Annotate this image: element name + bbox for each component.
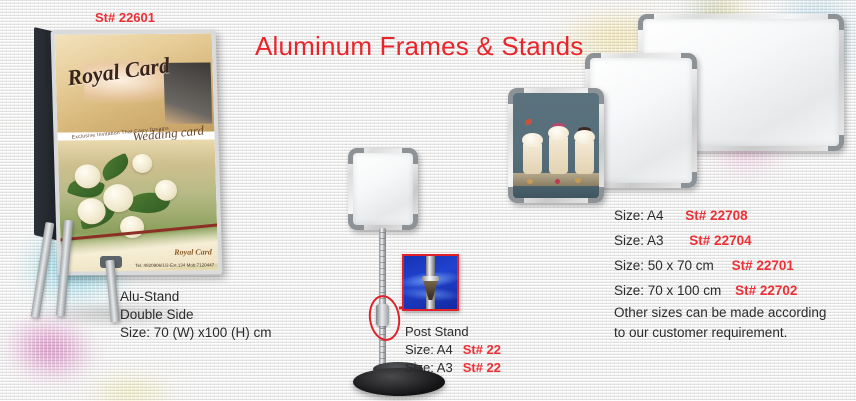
poster-rose <box>132 154 153 173</box>
watercolor-wash-yellow <box>60 368 200 401</box>
size-row: Size: 70 x 100 cm St# 22702 <box>614 278 826 303</box>
poster-rose <box>155 180 178 201</box>
poster-leaf <box>98 153 133 182</box>
photo-garnish <box>575 178 581 183</box>
snap-frame-small <box>508 88 604 203</box>
milkshake-photo <box>513 93 599 198</box>
snap-frame-medium-insert <box>590 58 692 183</box>
whipped-cream <box>522 133 543 147</box>
size-st-number: St# 22701 <box>732 258 794 273</box>
alu-stand-caption: Alu-Stand Double Side Size: 70 (W) x100 … <box>120 288 272 342</box>
post-stand-title: Post Stand <box>405 323 509 341</box>
catalog-page: St# 22601 Aluminum Frames & Stands Royal… <box>0 0 856 401</box>
poster-rose <box>77 198 106 224</box>
photo-garnish <box>527 179 533 184</box>
poster-rose <box>103 184 134 212</box>
frames-note-line1: Other sizes can be made according <box>614 303 826 323</box>
alu-stand-product: Royal Card Exclusive Invitation That Car… <box>16 24 256 314</box>
size-st-number: St# 22704 <box>689 233 751 248</box>
post-stand-st-number: St# 22 <box>463 342 501 357</box>
frame-sizes-list: Size: A4 St# 22708 Size: A3 St# 22704 Si… <box>614 203 826 343</box>
pole-joint-detail-inset <box>402 254 459 311</box>
photo-garnish <box>555 179 560 184</box>
a-stand-st-number: St# 22601 <box>95 10 155 25</box>
snap-frame-small-insert <box>513 93 599 198</box>
size-st-number: St# 22702 <box>735 283 797 298</box>
a-stand-poster: Royal Card Exclusive Invitation That Car… <box>51 29 223 275</box>
post-stand-frame-insert <box>353 153 413 225</box>
whipped-cream <box>548 126 569 140</box>
frames-note-line2: to our customer requirement. <box>614 323 826 343</box>
poster-top-photo: Royal Card <box>55 33 215 132</box>
alu-stand-size: Size: 70 (W) x100 (H) cm <box>120 324 272 342</box>
post-stand-row: Size: A3St# 22 <box>405 359 509 377</box>
post-stand-caption-clip: Post Stand Size: A4St# 22 Size: A3St# 22 <box>405 323 509 381</box>
photo-floor <box>513 186 599 198</box>
poster-logo: Royal Card <box>174 247 212 256</box>
size-row: Size: A3 St# 22704 <box>614 228 826 253</box>
milkshake-glass <box>523 143 542 174</box>
whipped-cream <box>574 130 595 144</box>
size-row: Size: A4 St# 22708 <box>614 203 826 228</box>
milkshake-glass <box>575 140 594 174</box>
alu-stand-name: Alu-Stand <box>120 288 272 306</box>
post-stand-row: Size: A4St# 22 <box>405 341 509 359</box>
size-label: Size: 50 x 70 cm <box>614 258 714 273</box>
poster-flowers-photo: Royal Card Tel.:4820906/1/2-Ext.134 Mob:… <box>58 139 219 271</box>
post-stand-frame <box>348 148 418 230</box>
alu-stand-side-info: Double Side <box>120 306 272 324</box>
photo-leaf <box>525 119 532 125</box>
poster-telephone: Tel.:4820906/1/2-Ext.134 Mob:7120447 <box>135 262 214 268</box>
size-label: Size: A3 <box>614 233 664 248</box>
size-row: Size: 50 x 70 cm St# 22701 <box>614 253 826 278</box>
milkshake-glass <box>549 136 568 174</box>
poster-rose <box>74 164 101 188</box>
post-stand-size: Size: A3 <box>405 360 453 375</box>
page-title: Aluminum Frames & Stands <box>255 31 583 62</box>
inset-pole-ring <box>422 276 439 281</box>
size-label: Size: A4 <box>614 208 664 223</box>
size-label: Size: 70 x 100 cm <box>614 283 721 298</box>
size-st-number: St# 22708 <box>685 208 747 223</box>
post-stand-size: Size: A4 <box>405 342 453 357</box>
post-stand-st-number: St# 22 <box>463 360 501 375</box>
post-stand-caption: Post Stand Size: A4St# 22 Size: A3St# 22 <box>405 323 509 377</box>
